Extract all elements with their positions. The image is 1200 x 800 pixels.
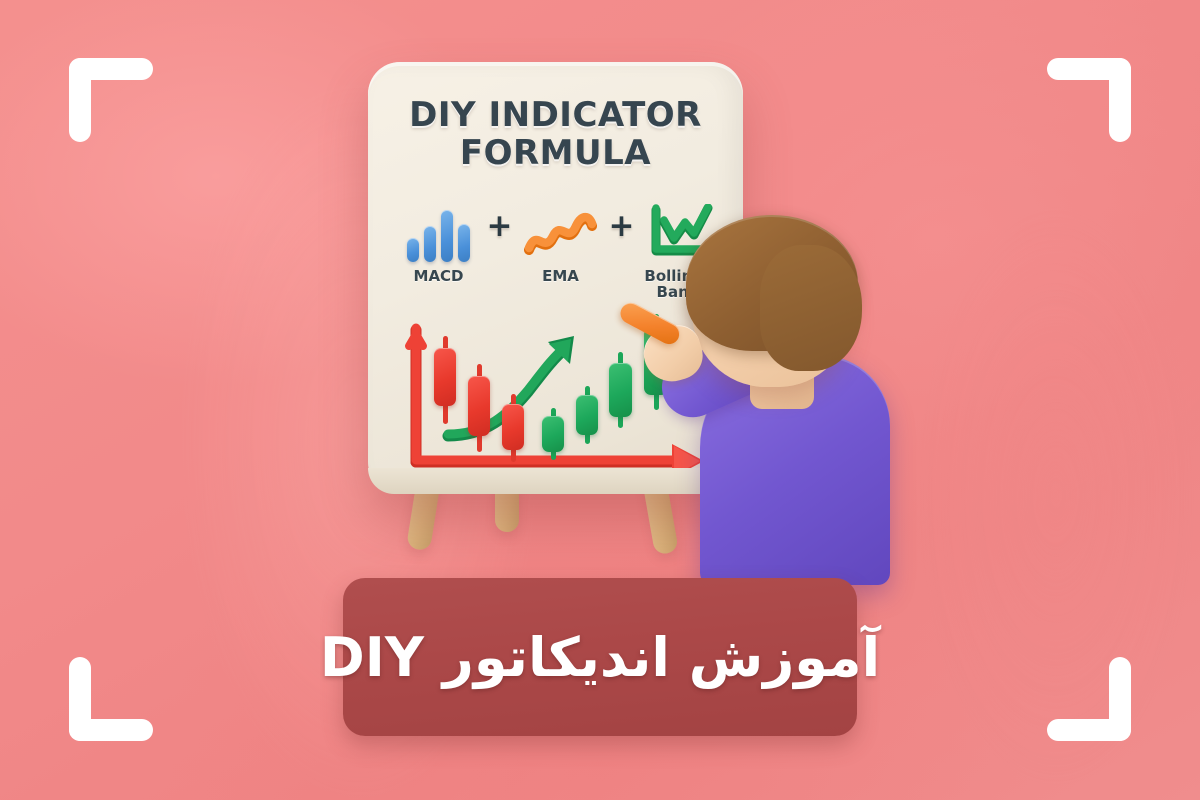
character-hair-back [760,245,862,371]
candle-bearish-2 [468,364,490,452]
whiteboard-title: DIY INDICATOR FORMULA [368,96,743,172]
operator-plus-1: + [487,200,513,262]
indicator-ema: EMA [517,200,605,284]
character-illustration [640,215,890,575]
bar-chart-icon [407,200,470,262]
indicator-label-macd: MACD [414,268,464,284]
title-banner: آموزش اندیکاتور DIY [343,578,857,736]
indicator-macd: MACD [395,200,483,284]
candle-bearish-1 [434,336,456,424]
candle-bullish-3 [609,352,632,428]
whiteboard-title-line1: DIY INDICATOR [409,95,702,135]
indicator-label-ema: EMA [542,268,579,284]
banner-title-text: آموزش اندیکاتور DIY [320,626,880,689]
candle-bullish-2 [576,386,598,444]
wavy-line-icon [522,200,600,262]
whiteboard-title-line2: FORMULA [368,134,743,172]
candle-bearish-3 [502,394,524,462]
candle-bullish-1 [542,408,564,460]
operator-plus-2: + [609,200,635,262]
illustration-scene: DIY INDICATOR FORMULA MACD + EMA [0,0,1200,800]
